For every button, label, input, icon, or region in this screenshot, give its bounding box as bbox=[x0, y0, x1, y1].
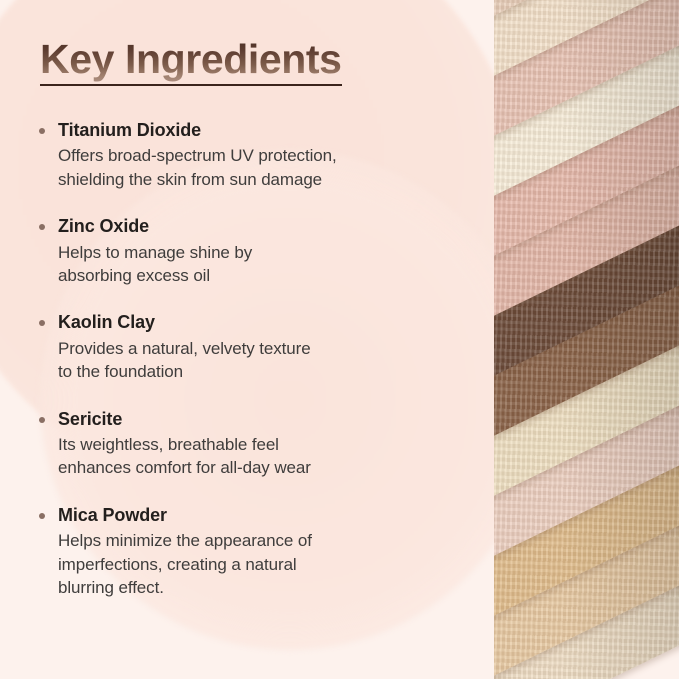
bullet-dot-icon bbox=[39, 513, 45, 519]
bullet-dot-icon bbox=[39, 320, 45, 326]
ingredient-name: Titanium Dioxide bbox=[58, 118, 456, 142]
ingredient-description: Helps to manage shine by absorbing exces… bbox=[58, 241, 456, 288]
ingredient-name: Zinc Oxide bbox=[58, 214, 456, 238]
ingredient-description: Helps minimize the appearance of imperfe… bbox=[58, 529, 456, 599]
bullet-dot-icon bbox=[39, 128, 45, 134]
powder-swatch-image bbox=[494, 0, 679, 679]
bullet-dot-icon bbox=[39, 417, 45, 423]
list-item: Titanium Dioxide Offers broad-spectrum U… bbox=[36, 118, 456, 191]
list-item: Kaolin Clay Provides a natural, velvety … bbox=[36, 310, 456, 383]
content-column: Key Ingredients Titanium Dioxide Offers … bbox=[0, 0, 500, 679]
page-title: Key Ingredients bbox=[40, 38, 342, 83]
ingredient-list: Titanium Dioxide Offers broad-spectrum U… bbox=[36, 118, 456, 599]
list-item: Mica Powder Helps minimize the appearanc… bbox=[36, 503, 456, 600]
ingredient-name: Mica Powder bbox=[58, 503, 456, 527]
list-item: Zinc Oxide Helps to manage shine by abso… bbox=[36, 214, 456, 287]
list-item: Sericite Its weightless, breathable feel… bbox=[36, 407, 456, 480]
ingredient-description: Its weightless, breathable feel enhances… bbox=[58, 433, 456, 480]
powder-band-stack bbox=[494, 0, 679, 679]
ingredient-name: Sericite bbox=[58, 407, 456, 431]
title-block: Key Ingredients bbox=[40, 38, 342, 86]
ingredient-name: Kaolin Clay bbox=[58, 310, 456, 334]
ingredient-description: Offers broad-spectrum UV protection, shi… bbox=[58, 144, 456, 191]
bullet-dot-icon bbox=[39, 224, 45, 230]
title-underline bbox=[40, 84, 342, 86]
ingredient-description: Provides a natural, velvety texture to t… bbox=[58, 337, 456, 384]
key-ingredients-infographic: Key Ingredients Titanium Dioxide Offers … bbox=[0, 0, 679, 679]
